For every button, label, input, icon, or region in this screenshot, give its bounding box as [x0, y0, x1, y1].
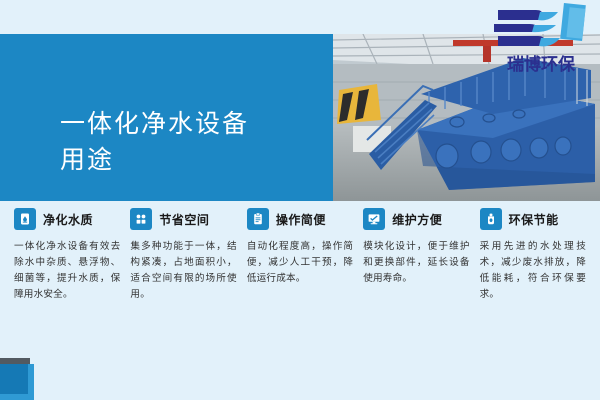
easy-maintenance-icon [363, 208, 385, 230]
feature-item-eco-energy-saving: 环保节能 采用先进的水处理技术，减少废水排放，降低能耗，符合环保要求。 [480, 208, 586, 303]
feature-description: 一体化净水设备有效去除水中杂质、悬浮物、细菌等，提升水质，保障用水安全。 [14, 239, 120, 303]
eco-energy-saving-icon [480, 208, 502, 230]
decorative-blue-square [0, 364, 28, 394]
feature-header: 环保节能 [480, 208, 586, 230]
easy-operation-icon [247, 208, 269, 230]
space-saving-icon [130, 208, 152, 230]
feature-header: 节省空间 [130, 208, 236, 230]
feature-header: 维护方便 [363, 208, 469, 230]
company-logo-graphic: 瑞博环保 [488, 2, 594, 78]
water-purify-icon [14, 208, 36, 230]
feature-item-purify: 净化水质 一体化净水设备有效去除水中杂质、悬浮物、细菌等，提升水质，保障用水安全… [14, 208, 130, 303]
feature-title: 维护方便 [392, 211, 442, 228]
page-title: 一体化净水设备 用途 [60, 106, 325, 178]
feature-title: 节省空间 [159, 211, 209, 228]
feature-description: 模块化设计，便于维护和更换部件，延长设备使用寿命。 [363, 239, 469, 287]
feature-item-space-saving: 节省空间 集多种功能于一体，结构紧凑，占地面积小，适合空间有限的场所使用。 [130, 208, 246, 303]
feature-title: 净化水质 [43, 211, 93, 228]
feature-description: 自动化程度高，操作简便，减少人工干预，降低运行成本。 [247, 239, 353, 287]
feature-item-easy-maintenance: 维护方便 模块化设计，便于维护和更换部件，延长设备使用寿命。 [363, 208, 479, 303]
poster-canvas: 一体化净水设备 用途 [0, 0, 600, 400]
feature-header: 操作简便 [247, 208, 353, 230]
feature-description: 采用先进的水处理技术，减少废水排放，降低能耗，符合环保要求。 [480, 239, 586, 303]
company-logo: 瑞博环保 [488, 2, 594, 78]
feature-header: 净化水质 [14, 208, 120, 230]
feature-list: 净化水质 一体化净水设备有效去除水中杂质、悬浮物、细菌等，提升水质，保障用水安全… [0, 208, 600, 303]
feature-title: 操作简便 [276, 211, 326, 228]
feature-item-easy-operation: 操作简便 自动化程度高，操作简便，减少人工干预，降低运行成本。 [247, 208, 363, 303]
feature-title: 环保节能 [509, 211, 559, 228]
logo-brand-text: 瑞博环保 [507, 54, 576, 74]
feature-description: 集多种功能于一体，结构紧凑，占地面积小，适合空间有限的场所使用。 [130, 239, 236, 303]
